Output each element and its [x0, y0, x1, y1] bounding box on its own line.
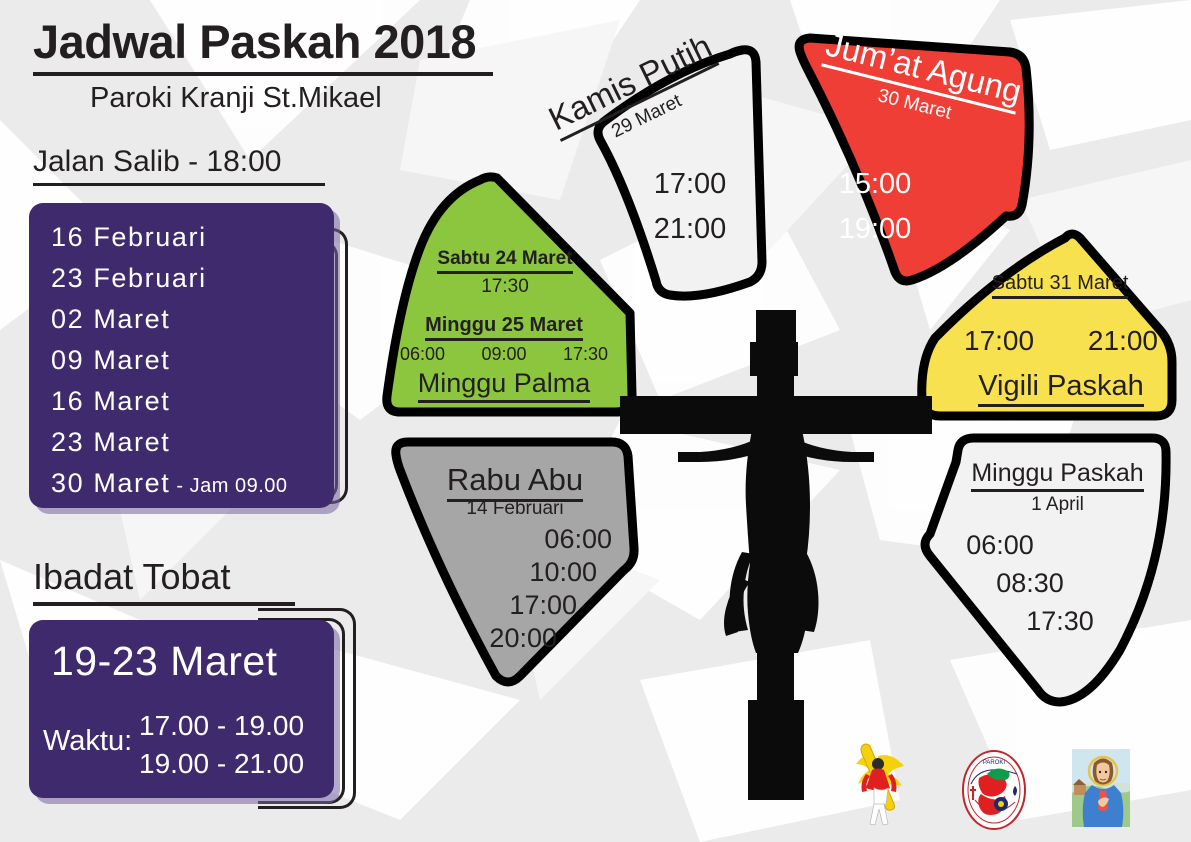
svg-text:PAROKI: PAROKI [983, 760, 1006, 766]
wedge-minggu-palma[interactable] [387, 177, 632, 412]
jesus-portrait-logo [1072, 749, 1130, 827]
saint-michael-archangel-icon [848, 738, 910, 833]
parish-seal-logo: PAROKI [957, 748, 1031, 832]
wedge-vigili-paskah[interactable] [922, 234, 1172, 416]
wedge-rabu-abu[interactable] [396, 442, 634, 682]
st-michael-logo [848, 738, 910, 833]
poster-canvas: Jadwal Paskah 2018 Paroki Kranji St.Mika… [0, 0, 1191, 842]
wedge-minggu-paskah[interactable] [925, 438, 1166, 702]
jesus-portrait-icon [1072, 749, 1130, 827]
parish-seal-icon: PAROKI [957, 748, 1031, 832]
